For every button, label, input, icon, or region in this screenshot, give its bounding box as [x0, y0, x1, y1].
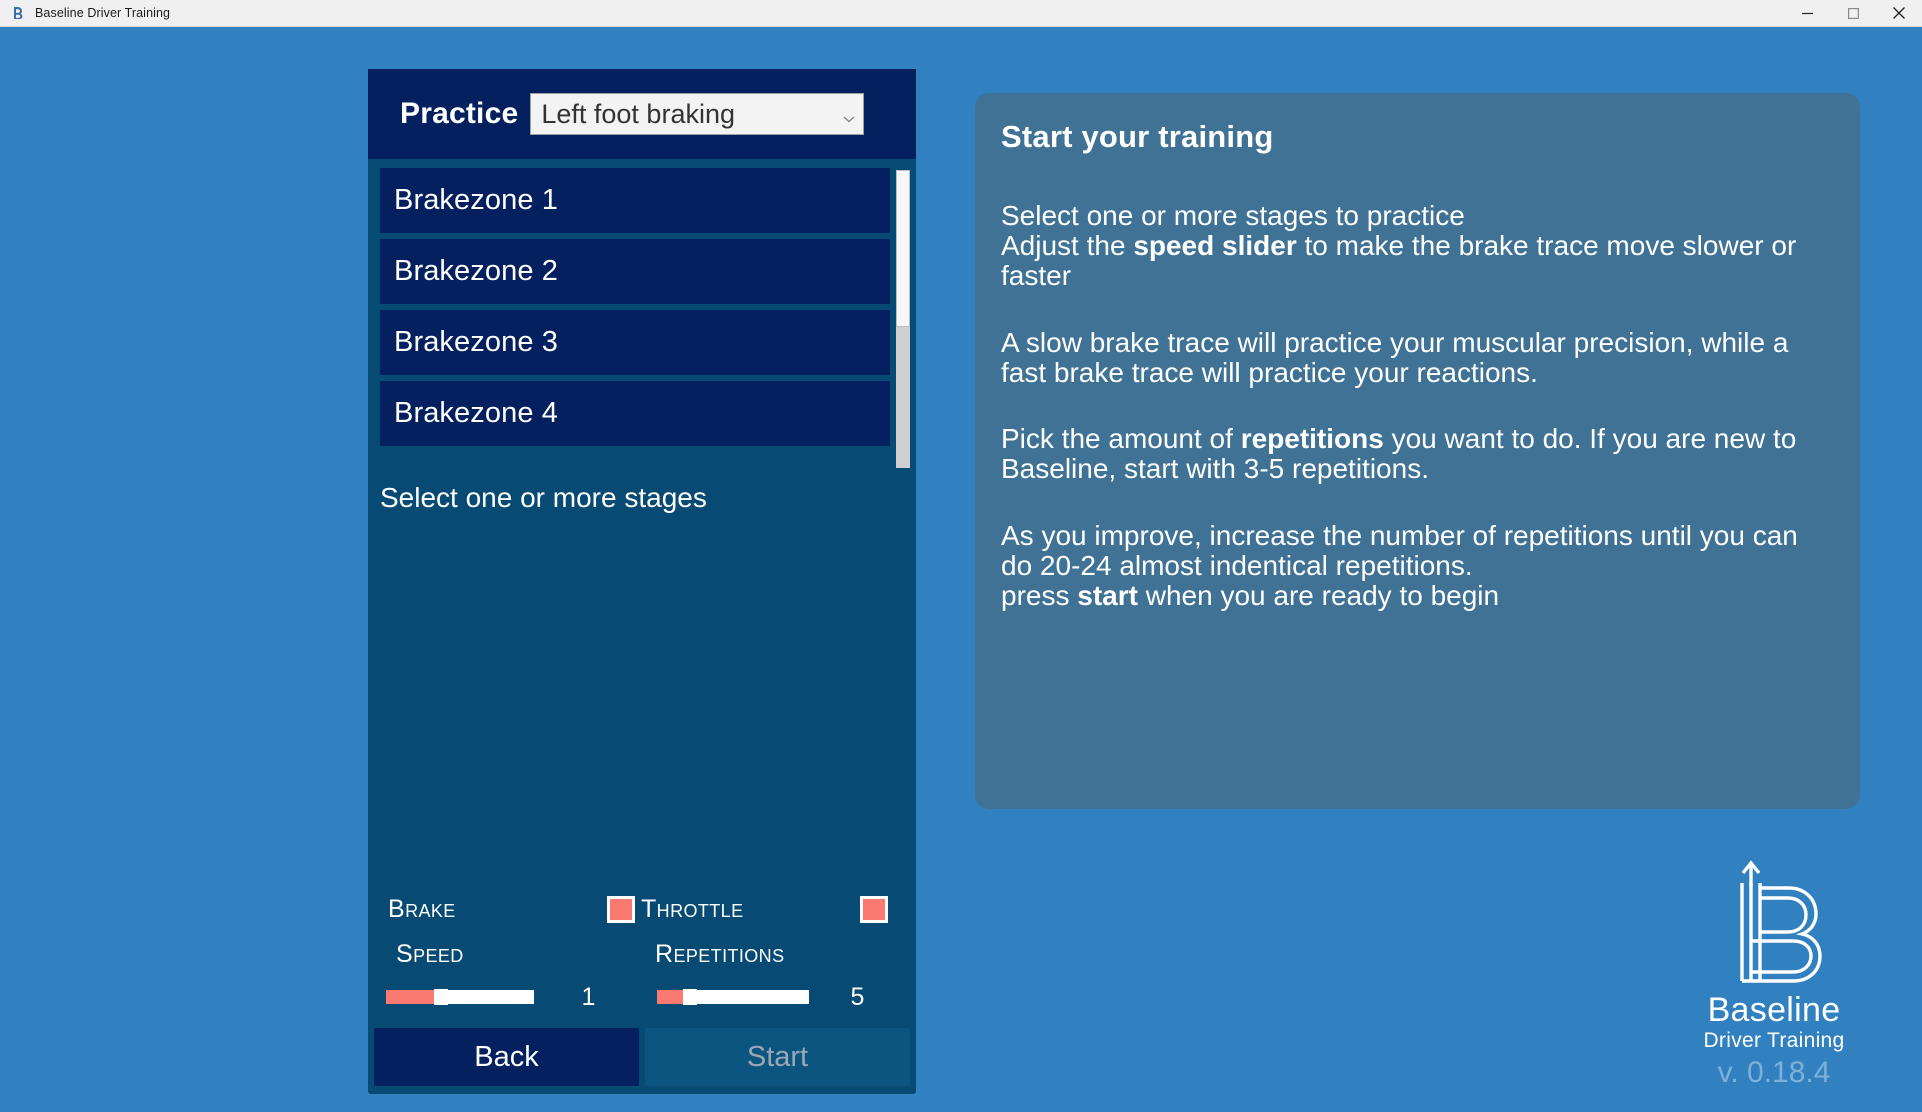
- stage-item-brakezone-2[interactable]: Brakezone 2: [380, 239, 890, 304]
- brand-subtitle: Driver Training: [1682, 1030, 1866, 1051]
- practice-mode-value: Left foot braking: [541, 99, 735, 130]
- brake-toggle-cell: Brake: [388, 895, 641, 924]
- maximize-icon[interactable]: [1830, 0, 1876, 27]
- stage-list-scrollbar[interactable]: [896, 170, 910, 468]
- throttle-label: Throttle: [641, 895, 860, 924]
- minimize-icon[interactable]: [1784, 0, 1830, 27]
- branding-block: Baseline Driver Training v. 0.18.4: [1682, 857, 1866, 1088]
- speed-label-cell: Speed: [388, 940, 641, 976]
- speed-slider-handle[interactable]: [434, 989, 448, 1005]
- close-icon[interactable]: [1876, 0, 1922, 27]
- stage-selection-hint: Select one or more stages: [380, 482, 707, 513]
- app-logo-icon: [10, 5, 26, 21]
- chevron-down-icon: [843, 110, 855, 118]
- stage-item-label: Brakezone 3: [394, 326, 558, 359]
- panel-spacer: [368, 514, 916, 886]
- brand-name: Baseline: [1682, 993, 1866, 1027]
- window-title: Baseline Driver Training: [35, 6, 170, 20]
- slider-row: 1 5: [368, 976, 916, 1018]
- speed-slider-fill: [386, 990, 435, 1004]
- throttle-checkbox[interactable]: [860, 896, 888, 923]
- instructions-title: Start your training: [1001, 119, 1830, 155]
- repetitions-value: 5: [809, 983, 906, 1012]
- speed-slider-cell: 1: [380, 983, 643, 1012]
- instructions-paragraph: A slow brake trace will practice your mu…: [1001, 328, 1830, 388]
- speed-label: Speed: [396, 940, 464, 976]
- repetitions-slider-cell: 5: [643, 983, 906, 1012]
- instructions-paragraph: As you improve, increase the number of r…: [1001, 521, 1830, 612]
- stage-item-brakezone-3[interactable]: Brakezone 3: [380, 310, 890, 375]
- stage-item-label: Brakezone 1: [394, 184, 558, 217]
- stage-item-brakezone-4[interactable]: Brakezone 4: [380, 381, 890, 446]
- stage-hint-row: Select one or more stages: [368, 470, 916, 514]
- speed-value: 1: [534, 983, 643, 1012]
- repetitions-slider-fill: [657, 990, 684, 1004]
- throttle-toggle-cell: Throttle: [641, 895, 894, 924]
- stage-item-label: Brakezone 4: [394, 397, 558, 430]
- stage-item-brakezone-1[interactable]: Brakezone 1: [380, 168, 890, 233]
- repetitions-label-cell: Repetitions: [641, 940, 894, 976]
- start-button: Start: [645, 1028, 910, 1086]
- repetitions-slider-handle[interactable]: [683, 989, 697, 1005]
- scrollbar-thumb[interactable]: [896, 170, 910, 327]
- window-titlebar: Baseline Driver Training: [0, 0, 1922, 27]
- instructions-panel: Start your training Select one or more s…: [975, 93, 1860, 809]
- stage-item-label: Brakezone 2: [394, 255, 558, 288]
- speed-slider[interactable]: [386, 990, 534, 1004]
- practice-panel: Practice Left foot braking Brakezone 1 B…: [368, 69, 916, 1094]
- instructions-paragraph: Select one or more stages to practiceAdj…: [1001, 201, 1830, 292]
- action-button-row: Back Start: [368, 1018, 916, 1094]
- repetitions-slider[interactable]: [657, 990, 809, 1004]
- back-button[interactable]: Back: [374, 1028, 639, 1086]
- practice-label: Practice: [400, 97, 518, 131]
- practice-mode-dropdown[interactable]: Left foot braking: [530, 93, 864, 135]
- toggle-row: Brake Throttle: [368, 886, 916, 932]
- instructions-paragraph: Pick the amount of repetitions you want …: [1001, 424, 1830, 484]
- app-background: Practice Left foot braking Brakezone 1 B…: [0, 27, 1922, 1112]
- brake-checkbox[interactable]: [607, 896, 635, 923]
- stage-list: Brakezone 1 Brakezone 2 Brakezone 3 Brak…: [380, 168, 890, 446]
- repetitions-label: Repetitions: [655, 940, 784, 976]
- app-version: v. 0.18.4: [1682, 1058, 1866, 1088]
- stage-list-area: Brakezone 1 Brakezone 2 Brakezone 3 Brak…: [368, 168, 916, 470]
- brake-label: Brake: [388, 895, 607, 924]
- baseline-b-logo-icon: [1682, 857, 1866, 985]
- slider-label-row: Speed Repetitions: [368, 932, 916, 976]
- practice-header: Practice Left foot braking: [368, 69, 916, 159]
